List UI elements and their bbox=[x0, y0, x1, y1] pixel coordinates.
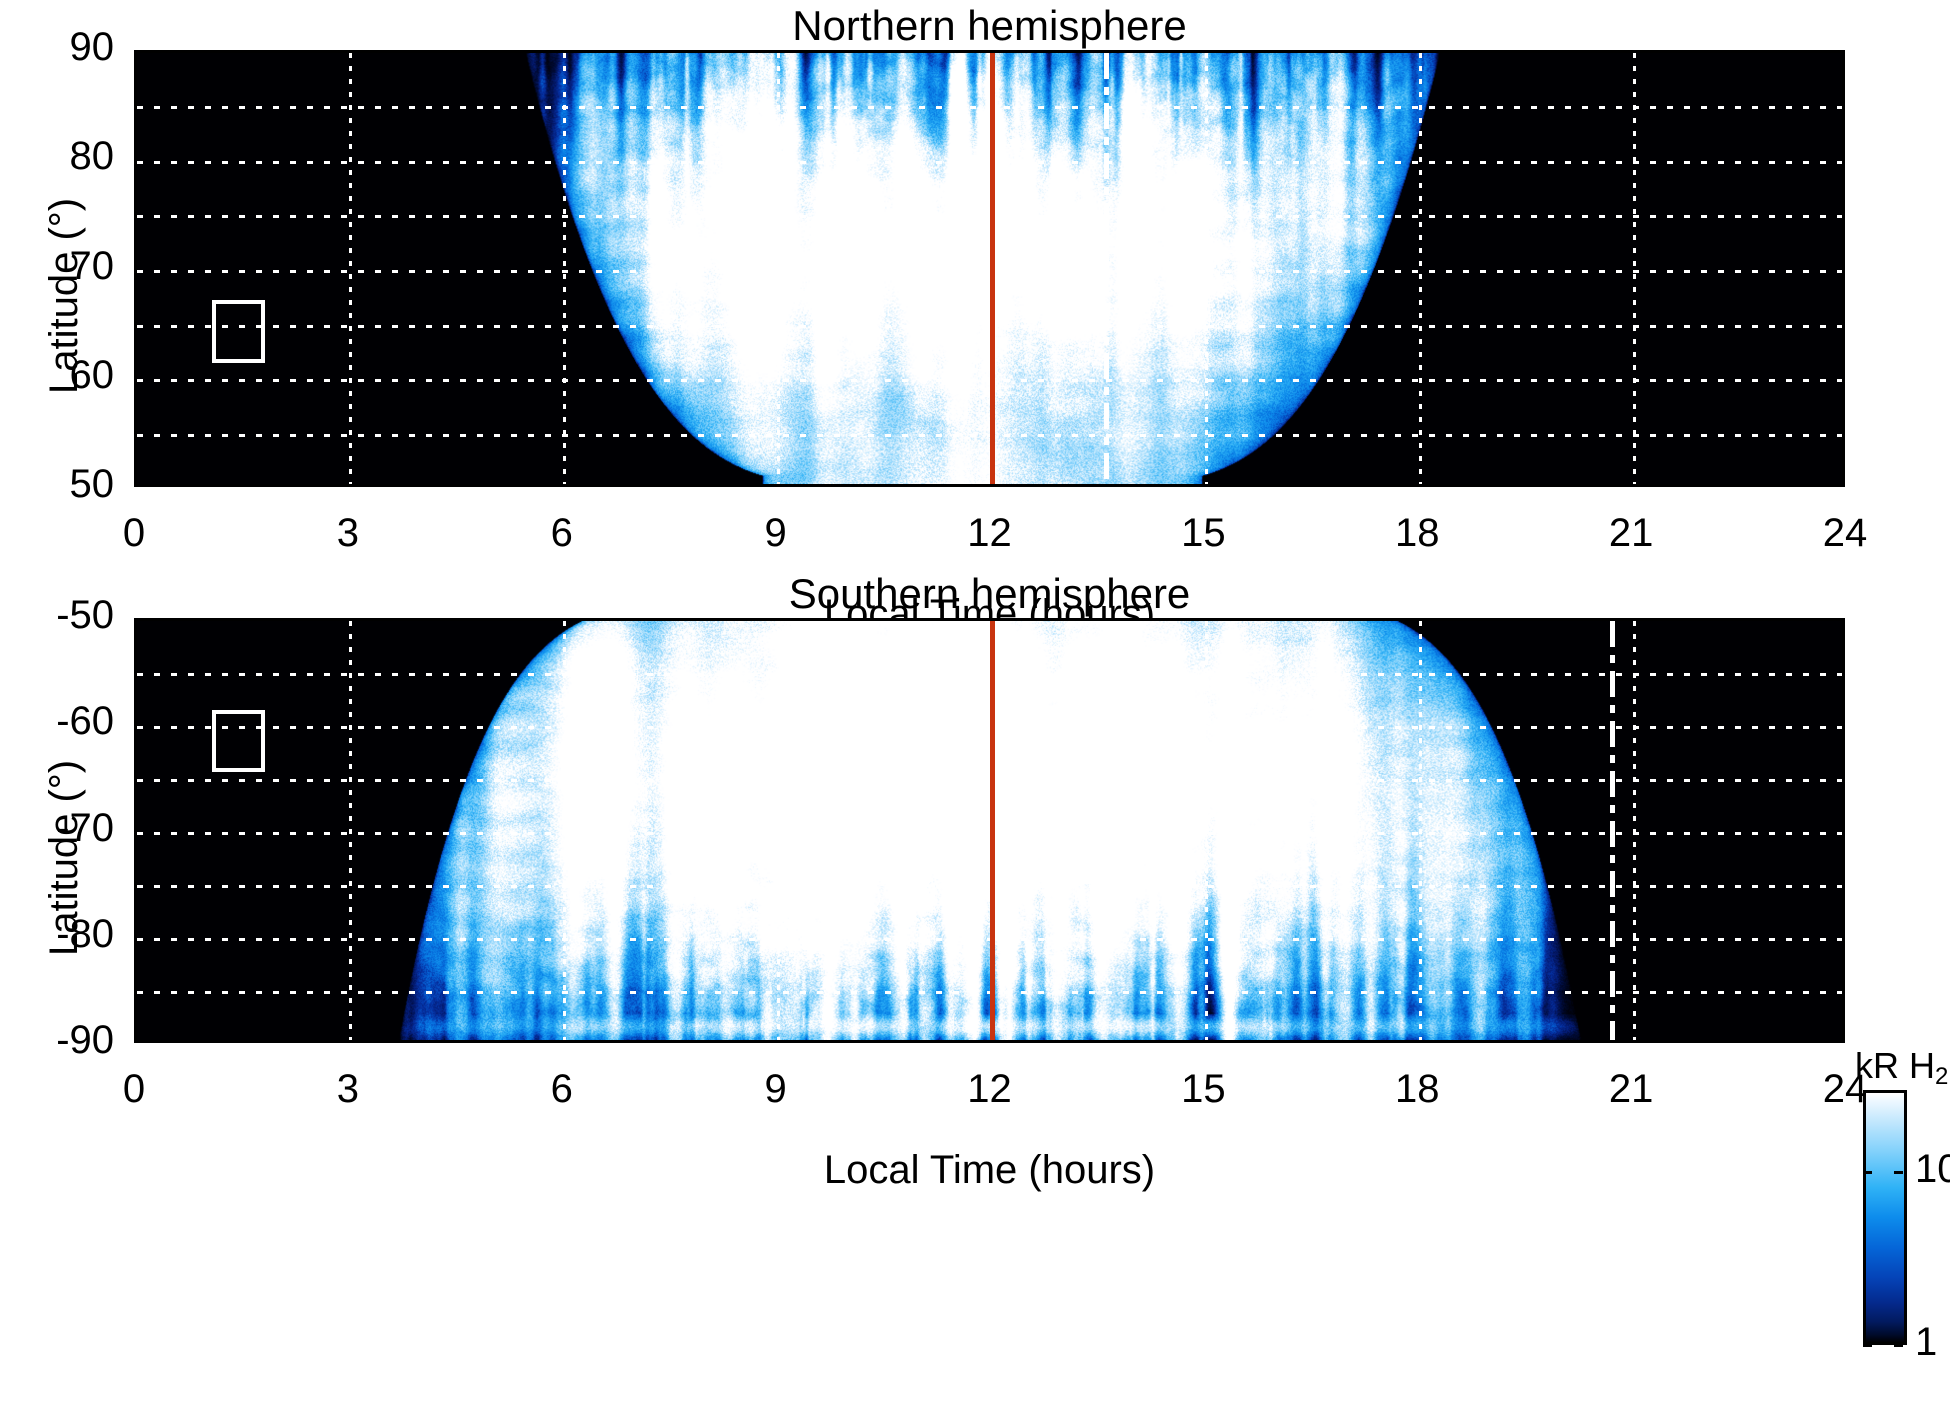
axis-tick bbox=[1842, 423, 1845, 426]
axis-tick bbox=[1561, 618, 1564, 621]
axis-tick bbox=[1842, 52, 1845, 55]
axis-tick bbox=[492, 484, 495, 487]
x-tick-label: 9 bbox=[716, 511, 836, 556]
x-tick-label: 18 bbox=[1357, 1067, 1477, 1112]
x-tick-label: 0 bbox=[74, 511, 194, 556]
axis-tick bbox=[777, 618, 780, 621]
axis-tick bbox=[635, 618, 638, 621]
axis-tick bbox=[136, 1040, 139, 1043]
axis-tick bbox=[134, 896, 137, 899]
x-axis-title-southern: Local Time (hours) bbox=[134, 1148, 1845, 1193]
axis-tick bbox=[1205, 1040, 1208, 1043]
x-tick-label: 12 bbox=[930, 511, 1050, 556]
scale-reference-box-southern bbox=[212, 710, 265, 772]
axis-tick bbox=[1276, 1040, 1279, 1043]
axis-tick bbox=[134, 705, 137, 708]
axis-tick bbox=[1134, 50, 1137, 53]
axis-tick bbox=[136, 618, 139, 621]
x-tick-label: 18 bbox=[1357, 511, 1477, 556]
axis-tick bbox=[1842, 270, 1845, 273]
axis-tick bbox=[635, 50, 638, 53]
x-tick-label: 15 bbox=[1143, 1067, 1263, 1112]
x-tick-label: 6 bbox=[502, 1067, 622, 1112]
axis-tick bbox=[134, 811, 137, 814]
axis-tick bbox=[1633, 1040, 1636, 1043]
axis-tick bbox=[134, 248, 137, 251]
axis-tick bbox=[134, 790, 137, 793]
axis-tick bbox=[134, 95, 137, 98]
axis-tick bbox=[1490, 50, 1493, 53]
axis-tick bbox=[134, 183, 137, 186]
axis-tick bbox=[1842, 73, 1845, 76]
axis-tick bbox=[1842, 1002, 1845, 1005]
axis-tick bbox=[1419, 50, 1422, 53]
axis-tick bbox=[1842, 445, 1845, 448]
y-axis-title-southern: Latitude (°) bbox=[42, 759, 87, 955]
axis-tick bbox=[1842, 768, 1845, 771]
axis-tick bbox=[207, 618, 210, 621]
x-tick-label: 15 bbox=[1143, 511, 1263, 556]
axis-tick bbox=[1347, 1040, 1350, 1043]
axis-tick bbox=[134, 683, 137, 686]
colorbar-title-text: kR H bbox=[1855, 1045, 1935, 1086]
colorbar-tick bbox=[1894, 1171, 1903, 1174]
axis-tick bbox=[1842, 204, 1845, 207]
axis-tick bbox=[134, 357, 137, 360]
colorbar: kR H2 110 bbox=[1855, 1045, 1950, 1355]
axis-tick bbox=[1842, 161, 1845, 164]
axis-tick bbox=[134, 336, 137, 339]
axis-tick bbox=[134, 768, 137, 771]
axis-tick bbox=[1842, 726, 1845, 729]
axis-tick bbox=[1062, 618, 1065, 621]
noon-meridian-line-southern bbox=[990, 621, 995, 1040]
axis-tick bbox=[706, 484, 709, 487]
axis-tick bbox=[207, 50, 210, 53]
axis-tick bbox=[1704, 618, 1707, 621]
axis-tick bbox=[920, 1040, 923, 1043]
axis-tick bbox=[1704, 50, 1707, 53]
axis-tick bbox=[777, 484, 780, 487]
axis-tick bbox=[1490, 618, 1493, 621]
axis-tick bbox=[920, 50, 923, 53]
axis-tick bbox=[1842, 620, 1845, 623]
axis-tick bbox=[1842, 811, 1845, 814]
colorbar-title-subscript: 2 bbox=[1935, 1063, 1948, 1090]
axis-tick bbox=[1347, 484, 1350, 487]
axis-tick bbox=[1842, 938, 1845, 941]
axis-tick bbox=[134, 917, 137, 920]
axis-tick bbox=[1842, 853, 1845, 856]
axis-tick bbox=[1842, 832, 1845, 835]
axis-tick bbox=[134, 981, 137, 984]
axis-tick bbox=[421, 1040, 424, 1043]
axis-tick bbox=[134, 401, 137, 404]
axis-tick bbox=[1561, 50, 1564, 53]
y-tick-label: 50 bbox=[0, 462, 114, 507]
axis-tick bbox=[848, 1040, 851, 1043]
axis-tick bbox=[134, 161, 137, 164]
axis-tick bbox=[134, 960, 137, 963]
axis-tick bbox=[991, 50, 994, 53]
axis-tick bbox=[134, 641, 137, 644]
axis-tick bbox=[134, 662, 137, 665]
axis-tick bbox=[1276, 618, 1279, 621]
axis-tick bbox=[1775, 50, 1778, 53]
axis-tick bbox=[1490, 484, 1493, 487]
axis-tick bbox=[421, 484, 424, 487]
axis-tick bbox=[1842, 336, 1845, 339]
x-tick-label: 9 bbox=[716, 1067, 836, 1112]
axis-tick bbox=[920, 618, 923, 621]
axis-tick bbox=[1205, 484, 1208, 487]
axis-tick bbox=[492, 50, 495, 53]
axis-tick bbox=[991, 618, 994, 621]
axis-tick bbox=[1842, 705, 1845, 708]
colorbar-tick bbox=[1863, 1171, 1872, 1174]
axis-tick bbox=[1842, 896, 1845, 899]
y-axis-title-northern: Latitude (°) bbox=[42, 197, 87, 393]
axis-tick bbox=[1347, 50, 1350, 53]
x-tick-label: 3 bbox=[288, 1067, 408, 1112]
axis-tick bbox=[848, 484, 851, 487]
y-tick-label: 90 bbox=[0, 25, 114, 70]
axis-tick bbox=[1561, 484, 1564, 487]
colorbar-tick-label: 10 bbox=[1915, 1147, 1950, 1192]
axis-tick bbox=[134, 379, 137, 382]
axis-tick bbox=[1633, 618, 1636, 621]
axis-tick bbox=[1842, 183, 1845, 186]
axis-tick bbox=[134, 117, 137, 120]
axis-tick bbox=[1842, 117, 1845, 120]
axis-tick bbox=[1134, 1040, 1137, 1043]
axis-tick bbox=[278, 50, 281, 53]
axis-tick bbox=[991, 484, 994, 487]
x-tick-label: 12 bbox=[930, 1067, 1050, 1112]
axis-tick bbox=[848, 618, 851, 621]
axis-tick bbox=[134, 270, 137, 273]
axis-tick bbox=[706, 1040, 709, 1043]
y-tick-label: 80 bbox=[0, 134, 114, 179]
axis-tick bbox=[1704, 484, 1707, 487]
axis-tick bbox=[1062, 1040, 1065, 1043]
axis-tick bbox=[1134, 618, 1137, 621]
axis-tick bbox=[563, 618, 566, 621]
axis-tick bbox=[1842, 95, 1845, 98]
axis-tick bbox=[134, 226, 137, 229]
axis-tick bbox=[920, 484, 923, 487]
noon-meridian-line-northern bbox=[990, 53, 995, 484]
axis-tick bbox=[1842, 917, 1845, 920]
axis-tick bbox=[349, 618, 352, 621]
axis-tick bbox=[134, 1002, 137, 1005]
axis-tick bbox=[134, 726, 137, 729]
x-tick-label: 3 bbox=[288, 511, 408, 556]
axis-tick bbox=[1419, 618, 1422, 621]
axis-tick bbox=[421, 618, 424, 621]
axis-tick bbox=[635, 1040, 638, 1043]
axis-tick bbox=[349, 50, 352, 53]
x-tick-label: 21 bbox=[1571, 511, 1691, 556]
y-tick-label: -90 bbox=[0, 1018, 114, 1063]
axis-tick bbox=[1419, 1040, 1422, 1043]
scale-reference-box-northern bbox=[212, 300, 265, 363]
axis-tick bbox=[777, 50, 780, 53]
axis-tick bbox=[134, 314, 137, 317]
axis-tick bbox=[706, 50, 709, 53]
axis-tick bbox=[492, 618, 495, 621]
plot-area-northern bbox=[134, 50, 1845, 487]
axis-tick bbox=[1842, 401, 1845, 404]
axis-tick bbox=[1842, 662, 1845, 665]
axis-tick bbox=[349, 1040, 352, 1043]
axis-tick bbox=[1561, 1040, 1564, 1043]
axis-tick bbox=[1842, 379, 1845, 382]
axis-tick bbox=[1775, 1040, 1778, 1043]
axis-tick bbox=[207, 1040, 210, 1043]
axis-tick bbox=[1842, 960, 1845, 963]
axis-tick bbox=[1842, 248, 1845, 251]
axis-tick bbox=[134, 832, 137, 835]
axis-tick bbox=[1842, 683, 1845, 686]
axis-tick bbox=[136, 484, 139, 487]
axis-tick bbox=[1842, 981, 1845, 984]
colorbar-tick-label: 1 bbox=[1915, 1320, 1937, 1365]
axis-tick bbox=[349, 484, 352, 487]
axis-tick bbox=[1842, 790, 1845, 793]
axis-tick bbox=[1842, 292, 1845, 295]
axis-tick bbox=[136, 50, 139, 53]
axis-tick bbox=[563, 1040, 566, 1043]
axis-tick bbox=[1842, 1023, 1845, 1026]
axis-tick bbox=[1276, 484, 1279, 487]
axis-tick bbox=[1842, 357, 1845, 360]
marker-line-northern bbox=[1104, 53, 1109, 484]
axis-tick bbox=[134, 52, 137, 55]
axis-tick bbox=[1633, 484, 1636, 487]
axis-tick bbox=[848, 50, 851, 53]
figure-root: Northern hemisphere 50607080900369121518… bbox=[0, 0, 1950, 1423]
panel-title-southern: Southern hemisphere bbox=[134, 570, 1845, 618]
axis-tick bbox=[134, 747, 137, 750]
axis-tick bbox=[134, 467, 137, 470]
axis-tick bbox=[1704, 1040, 1707, 1043]
axis-tick bbox=[1842, 139, 1845, 142]
axis-tick bbox=[134, 1023, 137, 1026]
axis-tick bbox=[134, 938, 137, 941]
axis-tick bbox=[134, 73, 137, 76]
axis-tick bbox=[1775, 618, 1778, 621]
axis-tick bbox=[563, 50, 566, 53]
axis-tick bbox=[134, 620, 137, 623]
colorbar-title: kR H2 bbox=[1855, 1045, 1948, 1091]
axis-tick bbox=[1062, 50, 1065, 53]
axis-tick bbox=[1062, 484, 1065, 487]
y-tick-label: -50 bbox=[0, 593, 114, 638]
axis-tick bbox=[1775, 484, 1778, 487]
x-tick-label: 0 bbox=[74, 1067, 194, 1112]
axis-tick bbox=[1842, 226, 1845, 229]
axis-tick bbox=[1347, 618, 1350, 621]
axis-tick bbox=[563, 484, 566, 487]
axis-tick bbox=[207, 484, 210, 487]
x-tick-label: 24 bbox=[1785, 511, 1905, 556]
axis-tick bbox=[1842, 467, 1845, 470]
axis-tick bbox=[134, 875, 137, 878]
y-tick-label: -60 bbox=[0, 699, 114, 744]
axis-tick bbox=[1205, 50, 1208, 53]
axis-tick bbox=[421, 50, 424, 53]
colorbar-gradient bbox=[1863, 1090, 1907, 1345]
axis-tick bbox=[1842, 747, 1845, 750]
axis-tick bbox=[134, 204, 137, 207]
axis-tick bbox=[706, 618, 709, 621]
axis-tick bbox=[134, 292, 137, 295]
colorbar-tick bbox=[1894, 1344, 1903, 1347]
axis-tick bbox=[1205, 618, 1208, 621]
axis-tick bbox=[278, 1040, 281, 1043]
x-tick-label: 21 bbox=[1571, 1067, 1691, 1112]
axis-tick bbox=[1134, 484, 1137, 487]
axis-tick bbox=[278, 484, 281, 487]
axis-tick bbox=[635, 484, 638, 487]
axis-tick bbox=[777, 1040, 780, 1043]
axis-tick bbox=[134, 423, 137, 426]
axis-tick bbox=[1842, 314, 1845, 317]
axis-tick bbox=[1276, 50, 1279, 53]
axis-tick bbox=[278, 618, 281, 621]
plot-area-southern bbox=[134, 618, 1845, 1043]
axis-tick bbox=[134, 853, 137, 856]
axis-tick bbox=[1842, 875, 1845, 878]
marker-line-southern bbox=[1610, 621, 1615, 1040]
axis-tick bbox=[1490, 1040, 1493, 1043]
axis-tick bbox=[1633, 50, 1636, 53]
colorbar-tick bbox=[1863, 1344, 1872, 1347]
x-tick-label: 6 bbox=[502, 511, 622, 556]
axis-tick bbox=[1842, 641, 1845, 644]
axis-tick bbox=[492, 1040, 495, 1043]
axis-tick bbox=[134, 139, 137, 142]
panel-title-northern: Northern hemisphere bbox=[134, 2, 1845, 50]
axis-tick bbox=[134, 445, 137, 448]
axis-tick bbox=[1419, 484, 1422, 487]
axis-tick bbox=[991, 1040, 994, 1043]
